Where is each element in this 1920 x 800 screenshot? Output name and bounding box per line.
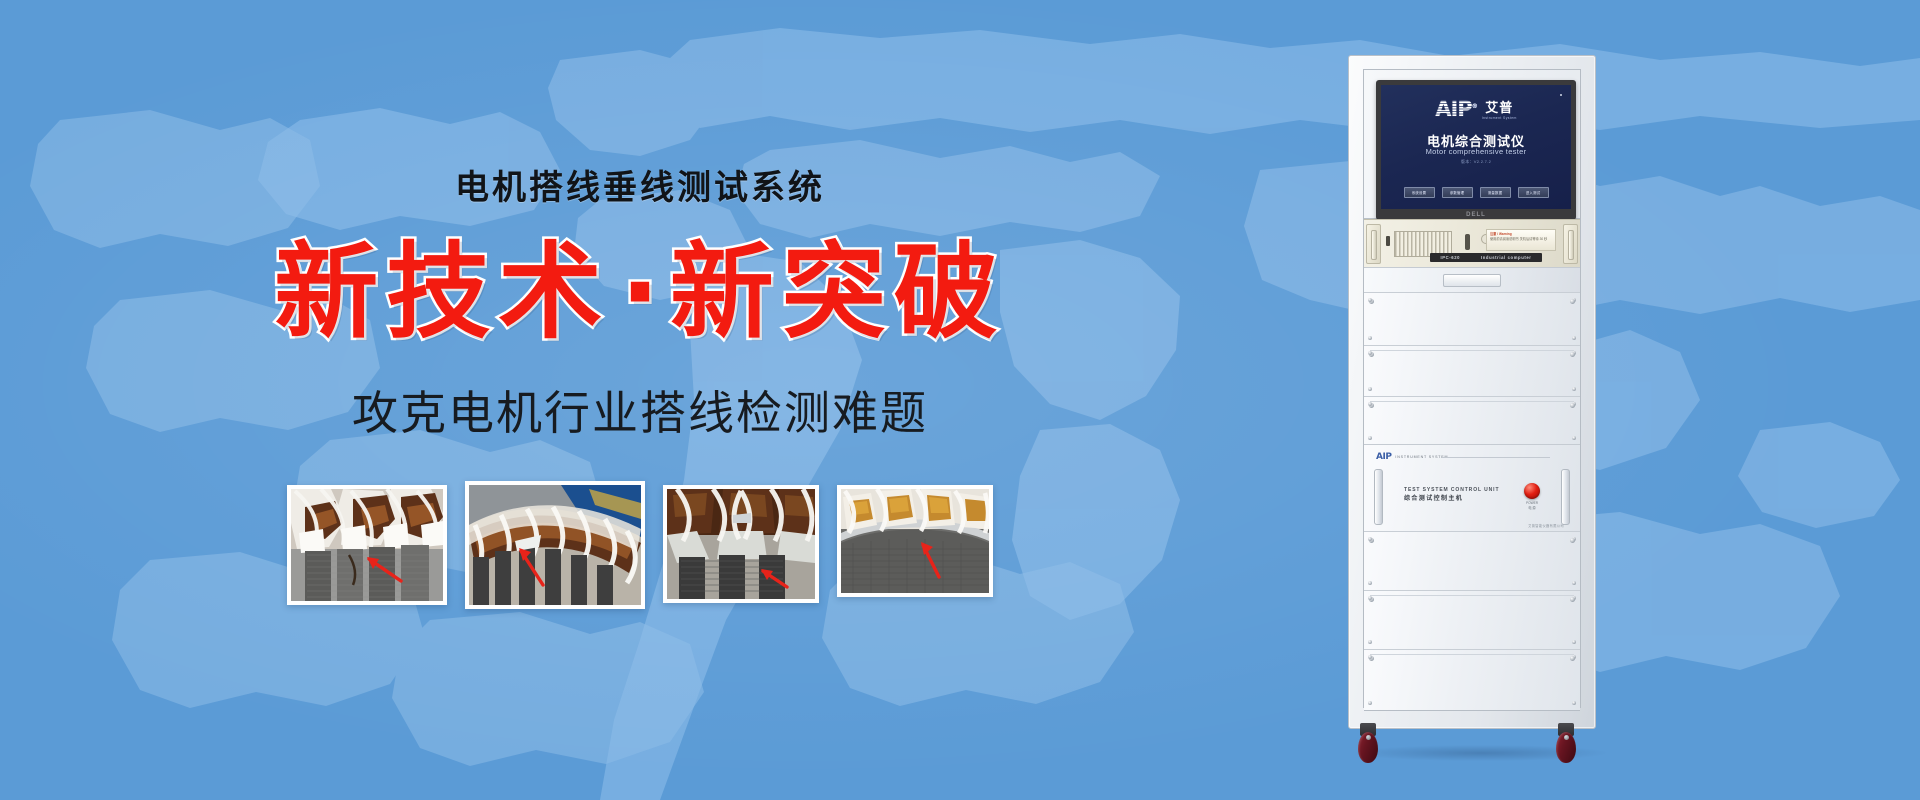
screen-version: 版本：V2.2.7.2 bbox=[1381, 159, 1571, 165]
screen-brand-row: AIP® 艾普 Instrument System bbox=[1381, 99, 1571, 120]
thumbnail-photo-3[interactable] bbox=[663, 485, 819, 603]
monitor-bay: AIP® 艾普 Instrument System 电机综合测试仪 Motor … bbox=[1364, 70, 1580, 219]
thumbnail-photo-1[interactable] bbox=[287, 485, 447, 605]
power-label-cn: 电 源 bbox=[1517, 506, 1547, 511]
ipc-warning-body: 使用前请阅读说明书 关机后请等待 30 秒 bbox=[1490, 237, 1552, 242]
monitor[interactable]: AIP® 艾普 Instrument System 电机综合测试仪 Motor … bbox=[1376, 80, 1576, 220]
cabinet-frame: AIP® 艾普 Instrument System 电机综合测试仪 Motor … bbox=[1348, 55, 1596, 729]
cabinet-drawer[interactable] bbox=[1364, 267, 1580, 293]
monitor-bezel-logo: DELL bbox=[1376, 212, 1576, 218]
control-unit-rule bbox=[1442, 457, 1550, 458]
subheadline: 攻克电机行业搭线检测难题 bbox=[352, 377, 928, 443]
headline-right: 新突破 bbox=[670, 231, 1006, 353]
monitor-screen[interactable]: AIP® 艾普 Instrument System 电机综合测试仪 Motor … bbox=[1381, 85, 1571, 209]
blank-panel-1 bbox=[1364, 292, 1580, 346]
blank-panel-5 bbox=[1364, 590, 1580, 650]
control-unit-title: TEST SYSTEM CONTROL UNIT 综合测试控制主机 bbox=[1404, 487, 1499, 504]
control-unit-title-cn: 综合测试控制主机 bbox=[1404, 495, 1499, 504]
caster-wheel-left bbox=[1358, 723, 1378, 763]
stator-winding-photo-3 bbox=[667, 489, 815, 599]
screen-button-parameters[interactable]: 参数管理 bbox=[1442, 187, 1473, 198]
thumbnail-strip bbox=[287, 485, 993, 609]
screen-title-en: Motor comprehensive tester bbox=[1381, 147, 1571, 156]
banner-copy: 电机搭线垂线测试系统 新技术·新突破 攻克电机行业搭线检测难题 bbox=[0, 0, 1280, 800]
control-unit-handle-left[interactable] bbox=[1374, 469, 1383, 525]
screen-button-settings[interactable]: 系统设置 bbox=[1404, 187, 1435, 198]
stator-winding-photo-2 bbox=[469, 485, 641, 605]
rack-ear-left bbox=[1366, 224, 1381, 264]
ipc-model-plate: IPC-620 Industrial computer bbox=[1430, 253, 1542, 262]
blank-panel-2 bbox=[1364, 345, 1580, 397]
ipc-model-number: IPC-620 bbox=[1440, 255, 1460, 260]
power-button-label: POWER 电 源 bbox=[1517, 501, 1547, 511]
test-system-control-unit: AIP INSTRUMENT SYSTEM TEST SYSTEM CONTRO… bbox=[1364, 444, 1580, 532]
control-unit-brand-sub: INSTRUMENT SYSTEM bbox=[1395, 455, 1448, 459]
blank-panel-4 bbox=[1364, 531, 1580, 591]
blank-panel-6 bbox=[1364, 649, 1580, 711]
cabinet-rack: AIP® 艾普 Instrument System 电机综合测试仪 Motor … bbox=[1363, 69, 1581, 708]
registered-mark-icon: ® bbox=[1472, 103, 1477, 110]
control-unit-aip-logo: AIP bbox=[1376, 452, 1391, 462]
rack-ear-right bbox=[1563, 224, 1578, 264]
screen-pixel-dot bbox=[1560, 94, 1562, 96]
test-system-cabinet: AIP® 艾普 Instrument System 电机综合测试仪 Motor … bbox=[1348, 55, 1608, 745]
headline: 新技术·新突破 bbox=[274, 237, 1006, 347]
blank-panel-3 bbox=[1364, 396, 1580, 446]
control-unit-brand: AIP INSTRUMENT SYSTEM bbox=[1376, 452, 1448, 462]
industrial-computer-unit: 注意 / Warning 使用前请阅读说明书 关机后请等待 30 秒 IPC-6… bbox=[1364, 219, 1580, 268]
control-unit-title-en: TEST SYSTEM CONTROL UNIT bbox=[1404, 487, 1499, 495]
ipc-key-slot[interactable] bbox=[1386, 236, 1390, 246]
control-unit-handle-right[interactable] bbox=[1561, 469, 1570, 525]
ipc-warning-title: 注意 / Warning bbox=[1490, 232, 1512, 236]
headline-left: 新技术 bbox=[274, 231, 610, 353]
screen-button-start-test[interactable]: 进入测试 bbox=[1518, 187, 1549, 198]
headline-separator: · bbox=[610, 231, 670, 353]
aip-chinese-brand: 艾普 Instrument System bbox=[1482, 101, 1517, 120]
stator-winding-photo-1 bbox=[291, 489, 443, 601]
screen-button-measurements[interactable]: 测量数据 bbox=[1480, 187, 1511, 198]
promo-banner: 电机搭线垂线测试系统 新技术·新突破 攻克电机行业搭线检测难题 bbox=[0, 0, 1920, 800]
thumbnail-photo-4[interactable] bbox=[837, 485, 993, 597]
caster-wheel-right bbox=[1556, 723, 1576, 763]
aip-wordmark: AIP® bbox=[1435, 99, 1476, 120]
control-unit-footer: 艾普智能仪器有限公司 bbox=[1528, 523, 1564, 528]
ipc-warning-label: 注意 / Warning 使用前请阅读说明书 关机后请等待 30 秒 bbox=[1486, 229, 1556, 251]
eyebrow-text: 电机搭线垂线测试系统 bbox=[455, 160, 825, 209]
thumbnail-photo-2[interactable] bbox=[465, 481, 645, 609]
power-button[interactable] bbox=[1524, 483, 1540, 499]
screen-button-row: 系统设置 参数管理 测量数据 进入测试 bbox=[1381, 187, 1571, 198]
drawer-handle[interactable] bbox=[1443, 274, 1501, 287]
ipc-model-name: Industrial computer bbox=[1481, 255, 1532, 260]
stator-winding-photo-4 bbox=[841, 489, 989, 593]
ipc-usb-port[interactable] bbox=[1465, 234, 1470, 250]
